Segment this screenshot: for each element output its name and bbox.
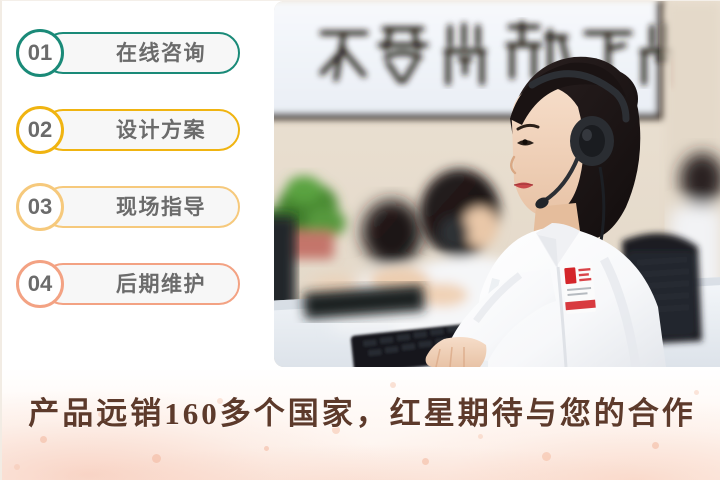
petal-decoration [264, 446, 269, 451]
step-number-03: 03 [28, 196, 52, 218]
step-number-04: 04 [28, 273, 52, 295]
bottom-banner: 产品远销160多个国家，红星期待与您的合作 [2, 368, 720, 480]
step-pill-03[interactable]: 现场指导 [42, 186, 240, 228]
petal-decoration [478, 434, 483, 439]
step-label-04: 后期维护 [116, 274, 206, 295]
step-number-01: 01 [28, 42, 52, 64]
step-number-badge-01: 01 [16, 29, 64, 77]
step-number-badge-02: 02 [16, 106, 64, 154]
petal-decoration [40, 436, 47, 443]
petal-decoration [542, 452, 551, 461]
steps-list: 在线咨询 01 设计方案 02 现场指导 03 后期维护 [16, 29, 256, 337]
step-pill-01[interactable]: 在线咨询 [42, 32, 240, 74]
step-number-badge-03: 03 [16, 183, 64, 231]
step-item-02[interactable]: 设计方案 02 [16, 106, 256, 154]
step-item-03[interactable]: 现场指导 03 [16, 183, 256, 231]
step-item-01[interactable]: 在线咨询 01 [16, 29, 256, 77]
petal-decoration [422, 458, 429, 465]
call-center-photo [274, 1, 720, 367]
step-label-03: 现场指导 [116, 197, 206, 218]
banner-slogan: 产品远销160多个国家，红星期待与您的合作 [2, 388, 720, 433]
petal-decoration [152, 454, 161, 463]
step-label-01: 在线咨询 [116, 43, 206, 64]
step-pill-02[interactable]: 设计方案 [42, 109, 240, 151]
step-item-04[interactable]: 后期维护 04 [16, 260, 256, 308]
step-number-02: 02 [28, 119, 52, 141]
step-pill-04[interactable]: 后期维护 [42, 263, 240, 305]
petal-decoration [14, 464, 20, 470]
step-label-02: 设计方案 [116, 120, 206, 141]
promo-page: 在线咨询 01 设计方案 02 现场指导 03 后期维护 [0, 0, 720, 480]
step-number-badge-04: 04 [16, 260, 64, 308]
petal-decoration [652, 442, 659, 449]
